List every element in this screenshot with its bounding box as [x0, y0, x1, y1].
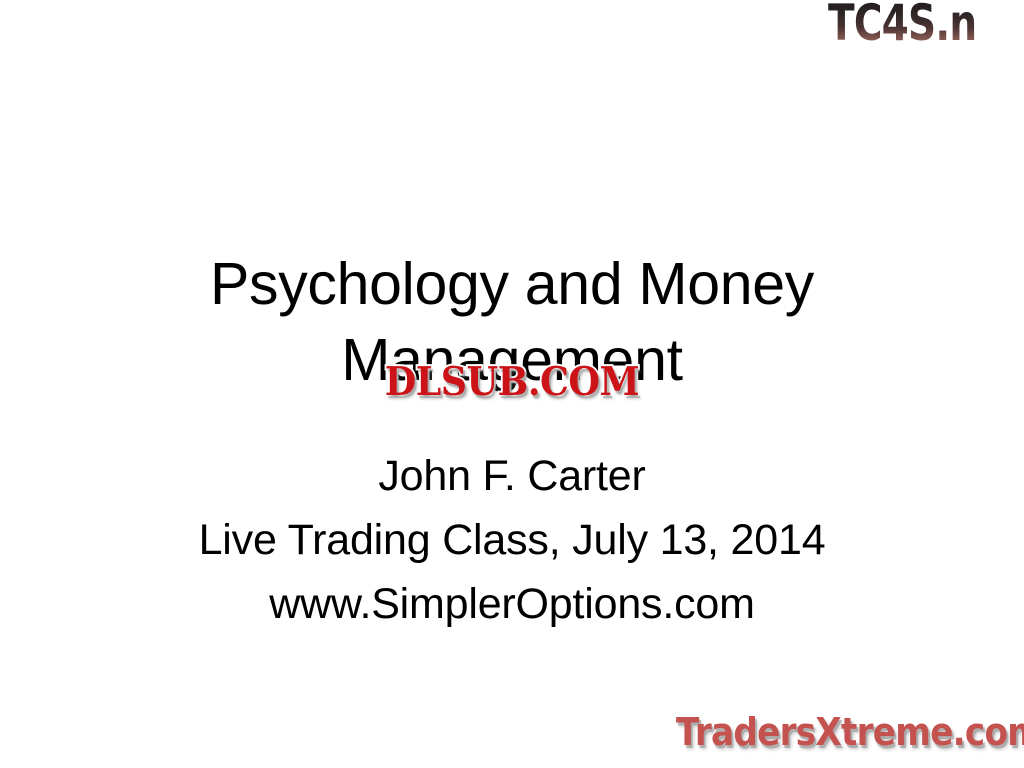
presentation-slide: TC4S.net Psychology and Money Management…	[0, 0, 1024, 768]
subtitle-event: Live Trading Class, July 13, 2014	[96, 508, 928, 572]
slide-subtitle: John F. Carter Live Trading Class, July …	[96, 444, 928, 636]
tc4s-net-watermark: TC4S.net	[828, 0, 978, 50]
subtitle-presenter: John F. Carter	[96, 444, 928, 508]
slide-title-line-1: Psychology and Money	[96, 246, 928, 322]
subtitle-website: www.SimplerOptions.com	[96, 572, 928, 636]
dlsub-com-watermark: DLSUB.COM	[377, 358, 647, 406]
tradersxtreme-com-watermark: TradersXtreme.com	[676, 708, 986, 756]
